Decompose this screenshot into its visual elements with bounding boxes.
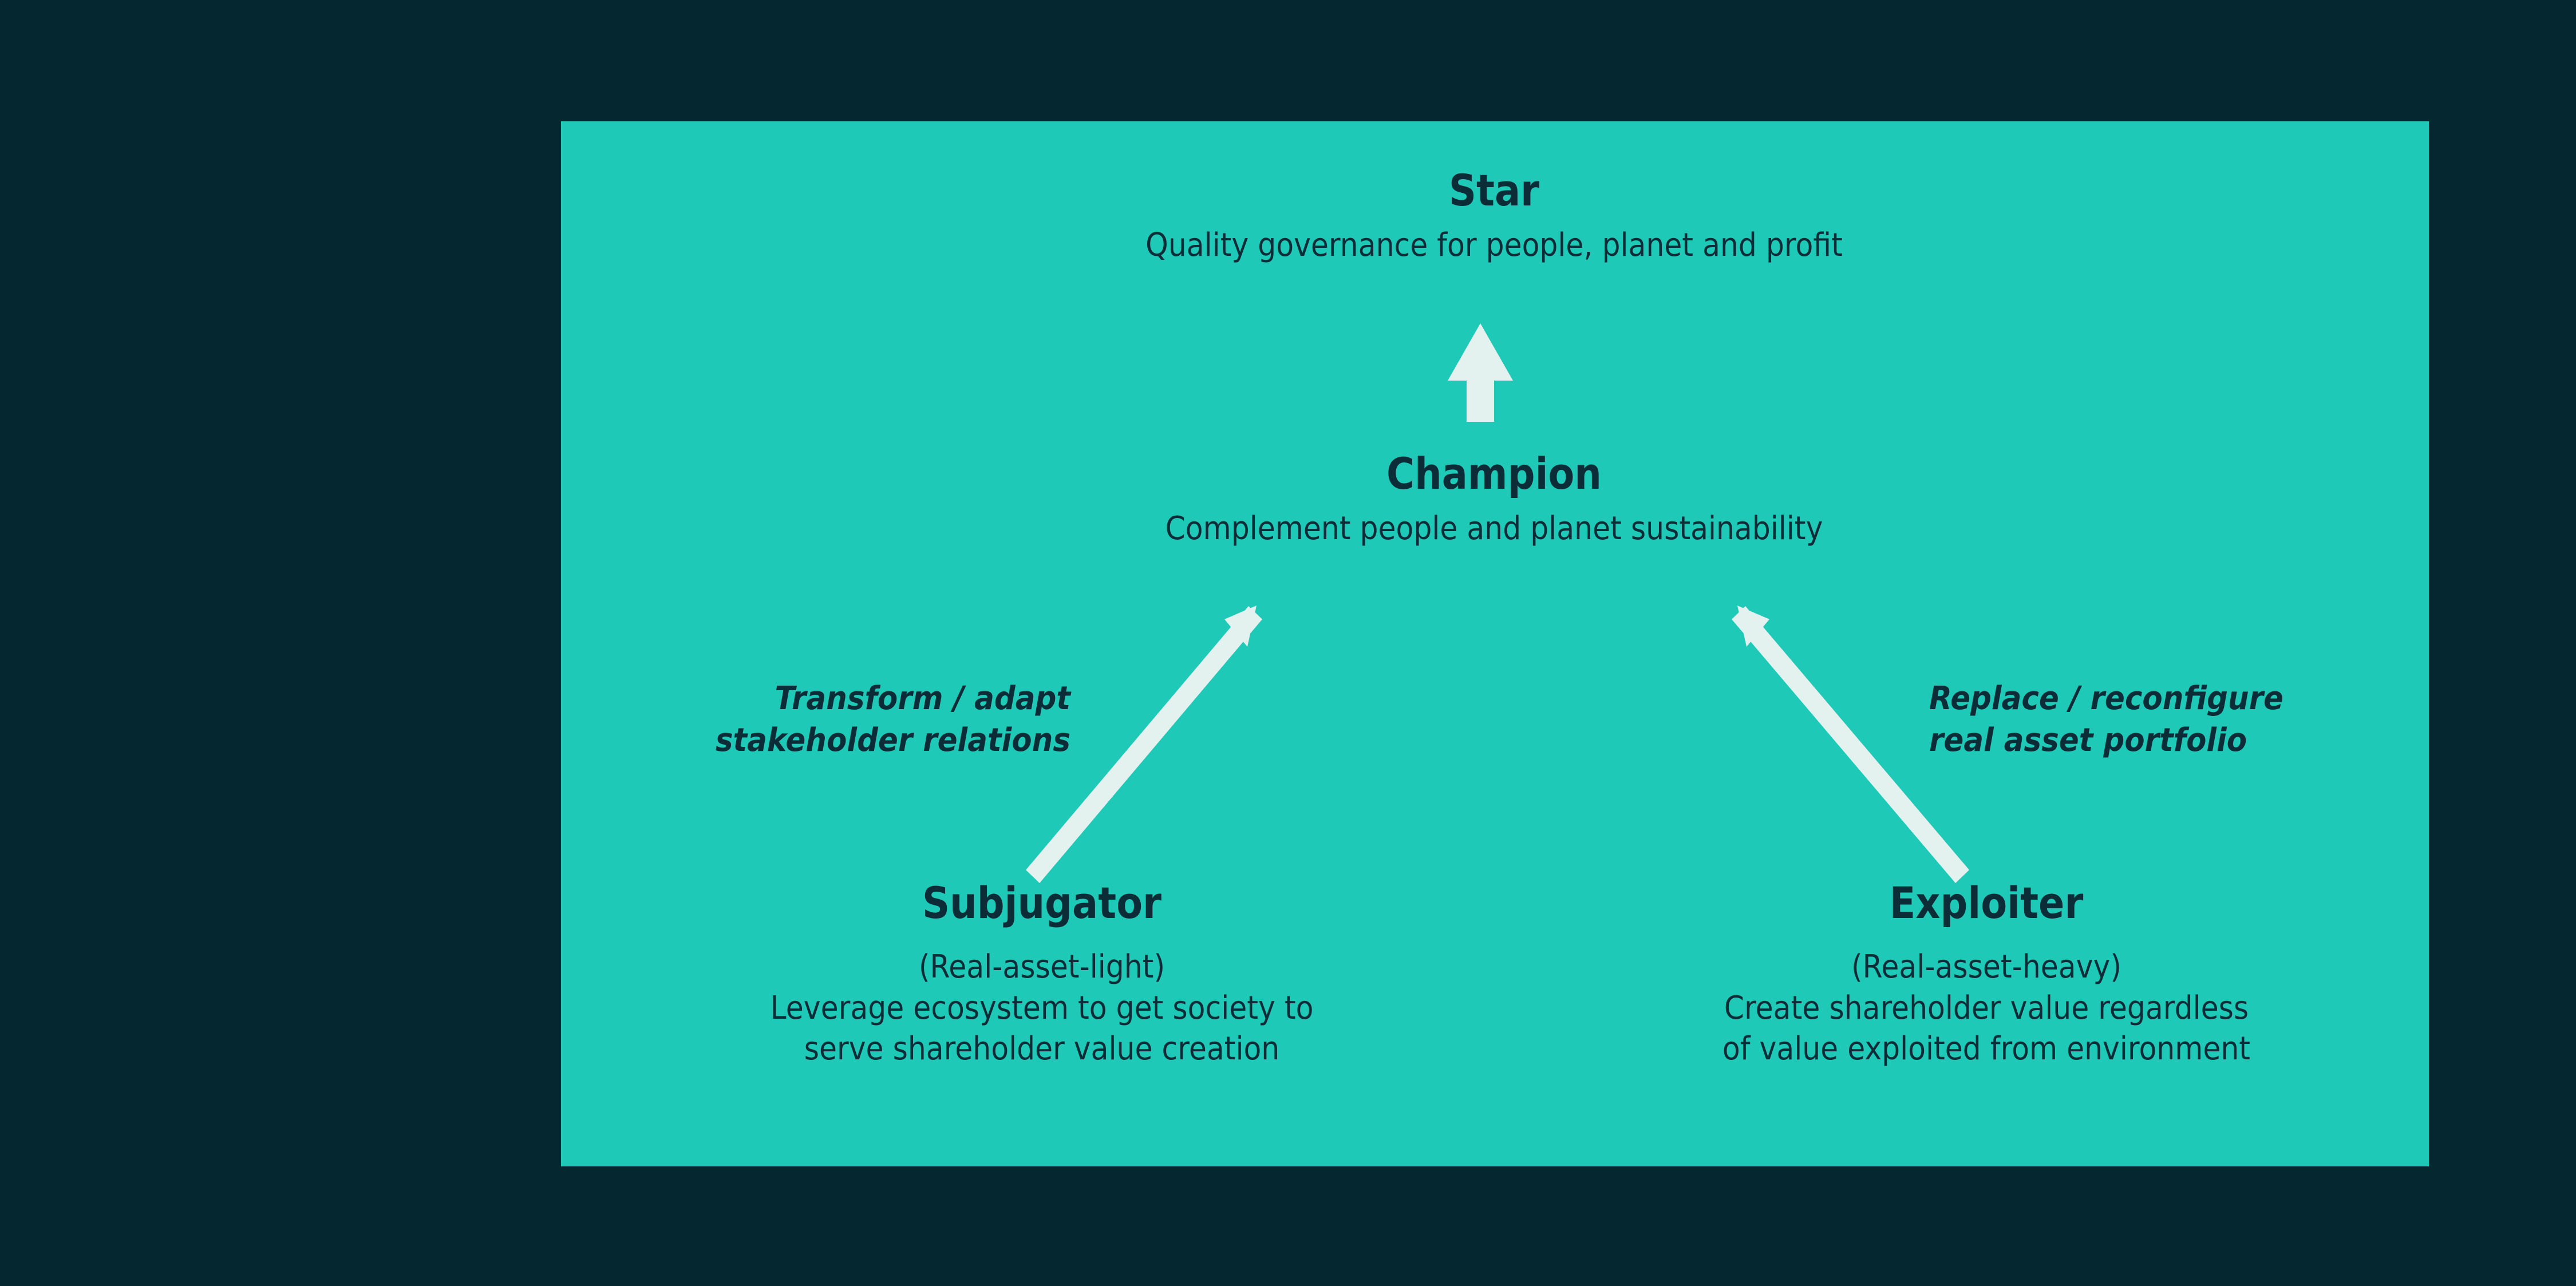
node-star-title: Star	[884, 169, 2104, 212]
node-star: Star Quality governance for people, plan…	[801, 169, 2187, 266]
node-subjugator-subtitle: Leverage ecosystem to get society to ser…	[666, 988, 1418, 1070]
diagram-canvas: Positive (High Road) Societal Impact Neg…	[0, 0, 2576, 1286]
node-star-subtitle: Quality governance for people, planet an…	[871, 225, 2117, 266]
node-subjugator-title: Subjugator	[674, 881, 1410, 925]
node-exploiter: Exploiter (Real-asset-heavy) Create shar…	[1568, 881, 2404, 1070]
node-exploiter-qualifier: (Real-asset-heavy)	[1610, 947, 2362, 988]
edge-caption-left: Transform / adapt stakeholder relations	[659, 678, 1070, 762]
node-subjugator-qualifier: (Real-asset-light)	[666, 947, 1418, 988]
node-exploiter-subtitle: Create shareholder value regardless of v…	[1610, 988, 2362, 1070]
node-champion-subtitle: Complement people and planet sustainabil…	[871, 508, 2117, 549]
edge-caption-right: Replace / reconfigure real asset portfol…	[1929, 678, 2340, 762]
node-exploiter-title: Exploiter	[1619, 881, 2354, 925]
node-subjugator: Subjugator (Real-asset-light) Leverage e…	[624, 881, 1460, 1070]
node-champion-title: Champion	[884, 452, 2104, 496]
node-champion: Champion Complement people and planet su…	[801, 452, 2187, 549]
